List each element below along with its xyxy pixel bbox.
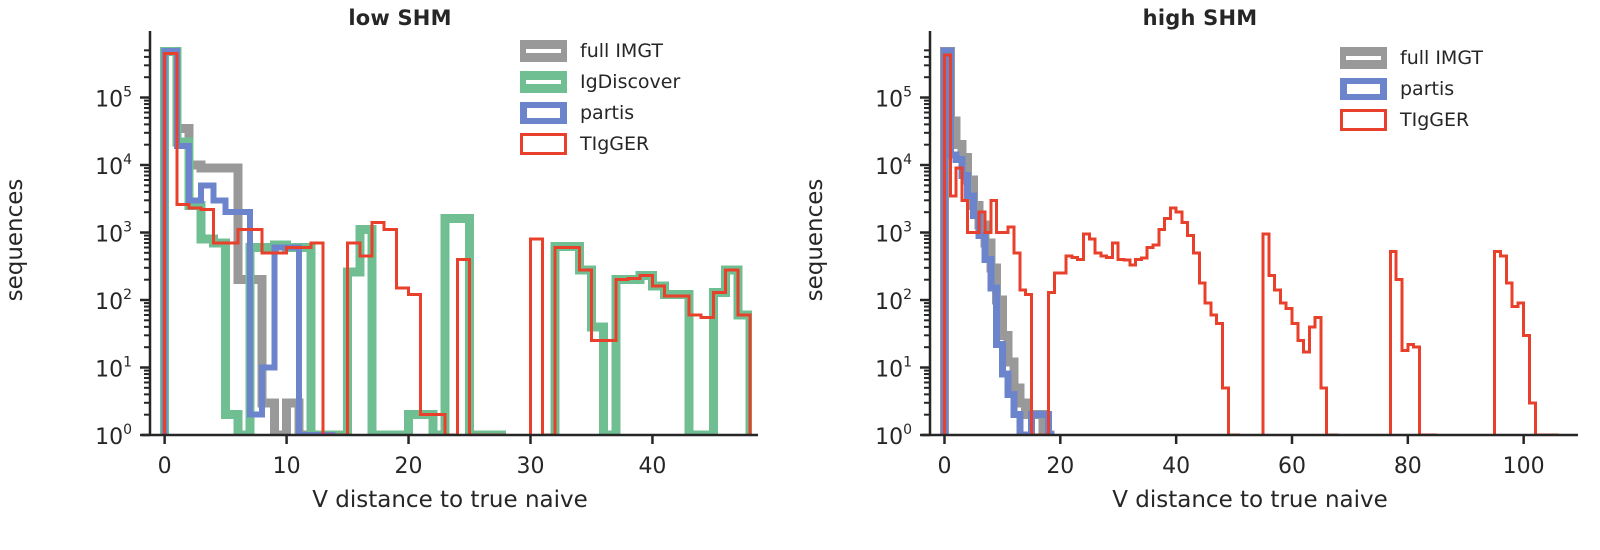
legend-item-full-imgt: full IMGT	[520, 38, 680, 64]
legend-label: TIgGER	[580, 133, 649, 155]
y-tick-label: 104	[875, 152, 912, 180]
legend-swatch-inner-line	[527, 108, 560, 118]
legend-item-full-imgt: full IMGT	[1340, 45, 1483, 71]
y-tick-label: 101	[95, 355, 132, 383]
x-tick-label: 80	[1394, 454, 1422, 479]
legend-swatch-icon	[1340, 47, 1387, 69]
legend-swatch-inner-line	[1347, 84, 1380, 94]
legend-item-partis: partis	[520, 100, 680, 126]
y-tick-label: 104	[95, 152, 132, 180]
x-axis-label-low-shm: V distance to true naive	[150, 487, 750, 513]
legend-label: partis	[1400, 78, 1454, 100]
y-axis-label-high-shm: sequences	[802, 179, 828, 302]
legend-swatch-icon	[520, 102, 567, 124]
y-tick-label: 103	[875, 220, 912, 248]
y-tick-label: 105	[875, 85, 912, 113]
legend-swatch-inner-line	[1346, 56, 1381, 60]
legend-swatch-inner-line	[526, 80, 561, 84]
series-partis	[944, 51, 1054, 435]
y-tick-label: 101	[875, 355, 912, 383]
x-tick-label: 40	[1162, 454, 1190, 479]
x-tick-label: 60	[1278, 454, 1306, 479]
legend-item-partis: partis	[1340, 76, 1483, 102]
x-axis-label-high-shm: V distance to true naive	[930, 487, 1570, 513]
legend-label: IgDiscover	[580, 71, 680, 93]
legend-item-tigger: TIgGER	[1340, 107, 1483, 133]
legend-label: full IMGT	[580, 40, 663, 62]
x-tick-label: 20	[1046, 454, 1074, 479]
legend-swatch-icon	[1340, 78, 1387, 100]
legend-item-igdiscover: IgDiscover	[520, 69, 680, 95]
x-tick-label: 0	[158, 454, 172, 479]
x-tick-label: 20	[395, 454, 423, 479]
x-tick-label: 10	[273, 454, 301, 479]
legend-swatch-icon	[520, 40, 567, 62]
y-tick-label: 103	[95, 220, 132, 248]
x-tick-label: 0	[937, 454, 951, 479]
panel-low-shm: low SHM 010203040100101102103104105 sequ…	[0, 0, 800, 550]
y-tick-label: 100	[875, 422, 912, 450]
legend-swatch-icon	[520, 133, 567, 155]
legend-label: partis	[580, 102, 634, 124]
y-tick-label: 102	[875, 287, 912, 315]
legend-label: full IMGT	[1400, 47, 1483, 69]
x-tick-label: 40	[638, 454, 666, 479]
legend-low-shm: full IMGTIgDiscoverpartisTIgGER	[520, 38, 680, 162]
legend-item-tigger: TIgGER	[520, 131, 680, 157]
y-axis-label-low-shm: sequences	[2, 179, 28, 302]
y-tick-label: 102	[95, 287, 132, 315]
legend-swatch-inner-line	[526, 49, 561, 53]
y-tick-label: 105	[95, 85, 132, 113]
y-tick-label: 100	[95, 422, 132, 450]
legend-swatch-icon	[1340, 109, 1387, 131]
x-tick-label: 30	[516, 454, 544, 479]
figure-root: low SHM 010203040100101102103104105 sequ…	[0, 0, 1600, 550]
legend-label: TIgGER	[1400, 109, 1469, 131]
x-tick-label: 100	[1503, 454, 1545, 479]
legend-swatch-icon	[520, 71, 567, 93]
panel-high-shm: high SHM 020406080100100101102103104105 …	[800, 0, 1600, 550]
legend-high-shm: full IMGTpartisTIgGER	[1340, 45, 1483, 138]
